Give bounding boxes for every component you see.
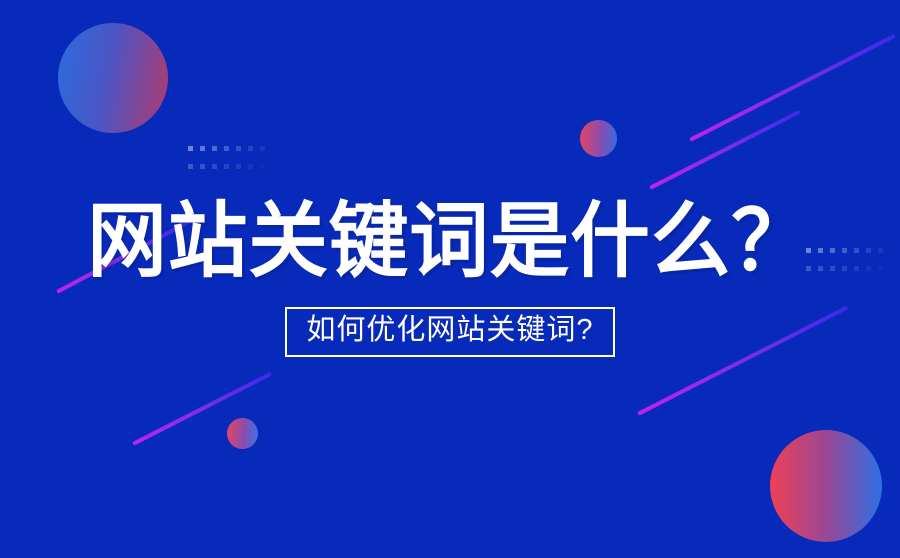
banner-subtitle-box: 如何优化网站关键词? <box>285 307 614 357</box>
banner-subtitle: 如何优化网站关键词? <box>306 314 593 347</box>
banner-content: 网站关键词是什么？ 如何优化网站关键词? <box>0 0 900 558</box>
banner-headline: 网站关键词是什么？ <box>88 201 813 283</box>
promo-banner: 网站关键词是什么？ 如何优化网站关键词? <box>0 0 900 558</box>
